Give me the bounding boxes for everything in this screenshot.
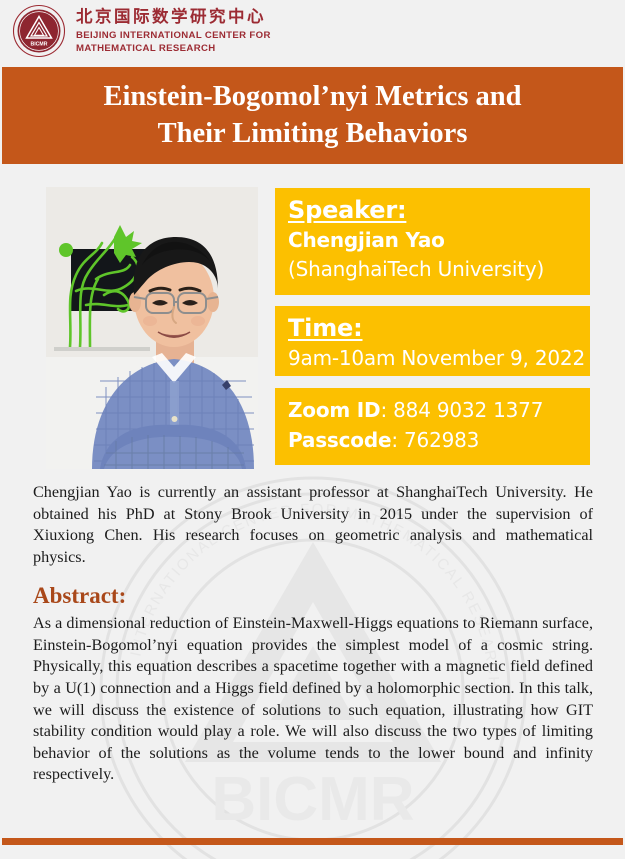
footer-rule	[2, 838, 623, 845]
talk-title-banner: Einstein-Bogomol’nyi Metrics and Their L…	[2, 67, 623, 164]
zoom-id-value: 884 9032 1377	[393, 398, 543, 422]
page-header: BICMR 北京国际数学研究中心 BEIJING INTERNATIONAL C…	[0, 0, 625, 62]
header-title-english-line2: MATHEMATICAL RESEARCH	[76, 43, 271, 54]
zoom-id-row: Zoom ID: 884 9032 1377	[288, 395, 590, 425]
bicmr-seal-logo-icon: BICMR	[12, 4, 66, 58]
talk-title-line-1: Einstein-Bogomol’nyi Metrics and	[104, 79, 522, 115]
speaker-label: Speaker:	[288, 195, 590, 226]
time-info-box: Time: 9am-10am November 9, 2022	[275, 306, 590, 376]
zoom-passcode-value: 762983	[404, 428, 479, 452]
talk-title-line-2: Their Limiting Behaviors	[158, 116, 468, 152]
abstract-heading: Abstract:	[33, 583, 126, 609]
header-title-english-line1: BEIJING INTERNATIONAL CENTER FOR	[76, 30, 271, 41]
header-title-block: 北京国际数学研究中心 BEIJING INTERNATIONAL CENTER …	[76, 8, 271, 54]
abstract-text: As a dimensional reduction of Einstein-M…	[33, 613, 593, 786]
speaker-bio: Chengjian Yao is currently an assistant …	[33, 482, 593, 568]
zoom-passcode-row: Passcode: 762983	[288, 425, 590, 455]
speaker-affiliation: (ShanghaiTech University)	[288, 255, 590, 283]
header-title-chinese: 北京国际数学研究中心	[76, 8, 271, 27]
time-label: Time:	[288, 313, 590, 344]
zoom-id-label: Zoom ID	[288, 398, 380, 422]
time-value: 9am-10am November 9, 2022	[288, 344, 590, 372]
speaker-photo	[46, 187, 258, 469]
poster-page: BICMR INTERNATIONAL CENTER FOR MATHEMATI…	[0, 0, 625, 859]
logo-acronym-text: BICMR	[30, 42, 47, 48]
zoom-passcode-separator: :	[391, 428, 404, 452]
speaker-info-box: Speaker: Chengjian Yao (ShanghaiTech Uni…	[275, 188, 590, 295]
zoom-info-box: Zoom ID: 884 9032 1377 Passcode: 762983	[275, 388, 590, 465]
speaker-name: Chengjian Yao	[288, 226, 590, 254]
zoom-passcode-label: Passcode	[288, 428, 391, 452]
zoom-id-separator: :	[380, 398, 393, 422]
